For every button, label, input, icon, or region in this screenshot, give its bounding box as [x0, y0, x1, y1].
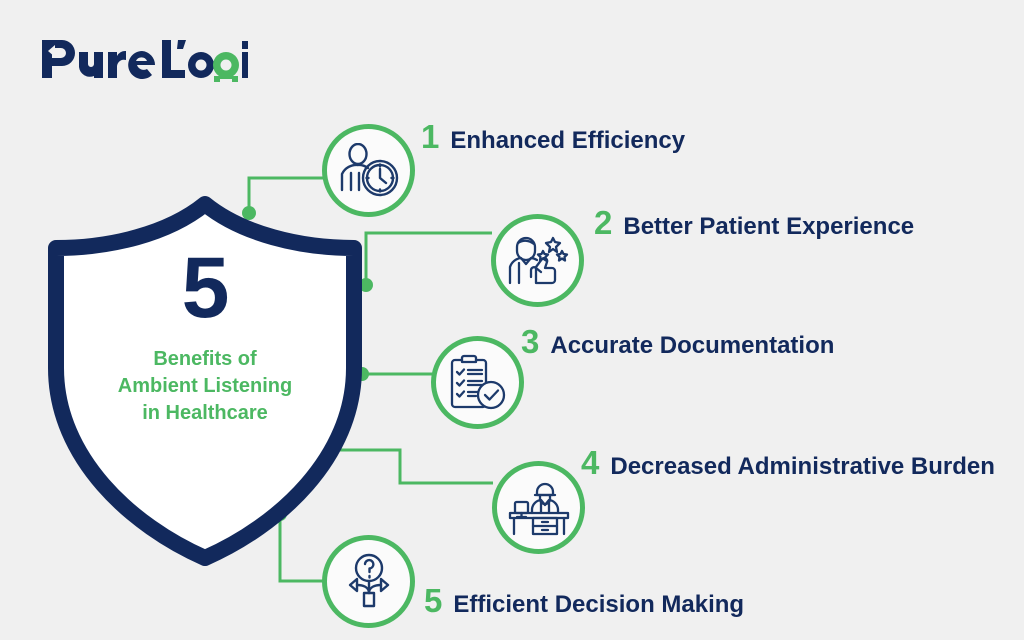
- person-thumbsup-stars-icon: [507, 233, 569, 289]
- shield-shape: [40, 196, 370, 566]
- benefit-label-2: 2 Better Patient Experience: [594, 206, 914, 239]
- person-desk-computer-icon: [507, 480, 571, 536]
- benefit-number-4: 4: [581, 446, 599, 479]
- benefit-icon-2[interactable]: [491, 214, 584, 307]
- infographic-canvas: 5 Benefits of Ambient Listening in Healt…: [0, 0, 1024, 640]
- benefit-icon-5[interactable]: [322, 535, 415, 628]
- clipboard-check-icon: [449, 353, 507, 413]
- purelogics-logo: [38, 36, 248, 82]
- logo-artwork: [38, 36, 248, 82]
- benefit-text-4: Decreased Administrative Burden: [610, 455, 995, 479]
- benefit-icon-4[interactable]: [492, 461, 585, 554]
- connector-line-2: [366, 233, 492, 285]
- question-arrows-icon: [338, 553, 400, 611]
- benefit-label-5: 5 Efficient Decision Making: [424, 584, 744, 617]
- benefit-label-4: 4 Decreased Administrative Burden: [581, 446, 995, 479]
- benefit-icon-1[interactable]: [322, 124, 415, 217]
- shield-badge: 5 Benefits of Ambient Listening in Healt…: [40, 196, 370, 566]
- benefit-text-3: Accurate Documentation: [550, 334, 834, 358]
- benefit-number-3: 3: [521, 325, 539, 358]
- benefit-number-1: 1: [421, 120, 439, 153]
- benefit-number-2: 2: [594, 206, 612, 239]
- benefit-text-5: Efficient Decision Making: [453, 593, 744, 617]
- benefit-label-1: 1 Enhanced Efficiency: [421, 120, 685, 153]
- benefit-text-1: Enhanced Efficiency: [450, 129, 685, 153]
- benefit-icon-3[interactable]: [431, 336, 524, 429]
- benefit-label-3: 3 Accurate Documentation: [521, 325, 834, 358]
- person-clock-icon: [338, 143, 400, 199]
- benefit-text-2: Better Patient Experience: [623, 215, 914, 239]
- benefit-number-5: 5: [424, 584, 442, 617]
